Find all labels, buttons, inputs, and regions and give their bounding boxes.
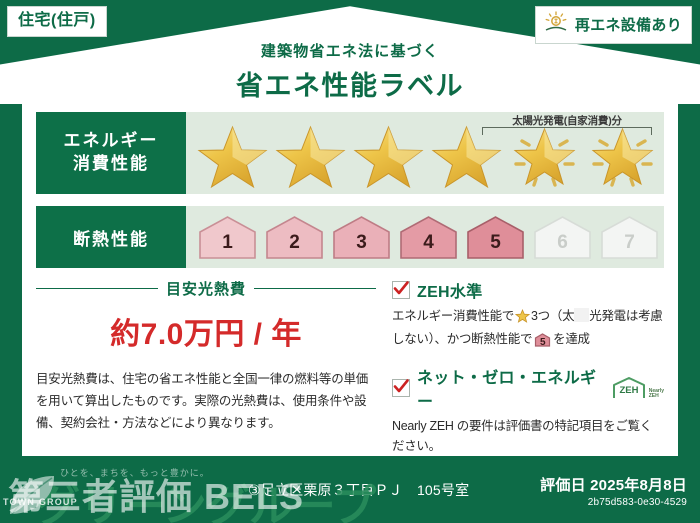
star-icon [428, 117, 505, 189]
renewable-badge-label: 再エネ設備あり [575, 14, 682, 35]
checkbox-checked-icon[interactable] [392, 379, 410, 397]
house-level-1: 1 [196, 214, 259, 260]
star-icon [272, 117, 349, 189]
net-zero-head: ネット・ゼロ・エネルギー ZEH Nearly ZEH [392, 364, 664, 412]
utility-cost-value: 約7.0万円 / 年 [36, 309, 376, 353]
evaluation-info: 評価日 2025年8月8日 2b75d583-0e30-4529 [540, 474, 687, 508]
house-level-6: 6 [531, 214, 594, 260]
zeh-standard-check: ZEH水準 エネルギー消費性能で3つ（太光発電は考慮しない）、かつ断熱性能で5を… [392, 278, 664, 354]
insulation-levels-area: 1 2 3 [186, 206, 664, 268]
insulation-performance-row: 断熱性能 1 2 [36, 206, 664, 268]
house-level-5: 5 [464, 214, 527, 260]
net-zero-body: Nearly ZEH の要件は評価書の特記項目をご覧ください。 [392, 416, 664, 457]
zeh-standard-head: ZEH水準 [392, 278, 664, 302]
star-rating [186, 112, 664, 194]
house-level-3: 3 [330, 214, 393, 260]
watermark-tagline: ひとを、まちを、もっと豊かに。 [60, 466, 210, 479]
star-icon [194, 117, 271, 189]
zeh-house-logo-icon: ZEH Nearly ZEH [611, 376, 664, 400]
house-level-4: 4 [397, 214, 460, 260]
zeh-standard-body: エネルギー消費性能で3つ（太光発電は考慮しない）、かつ断熱性能で5を達成 [392, 306, 664, 354]
zeh-standard-title: ZEH水準 [417, 278, 483, 302]
star-icon-solar [506, 117, 583, 189]
star-icon-solar [584, 117, 661, 189]
certification-checks: ZEH水準 エネルギー消費性能で3つ（太光発電は考慮しない）、かつ断熱性能で5を… [392, 278, 664, 466]
evaluation-date: 評価日 2025年8月8日 [540, 474, 687, 495]
star-icon [350, 117, 427, 189]
utility-cost-block: 目安光熱費 約7.0万円 / 年 目安光熱費は、住宅の省エネ性能と全国一律の燃料… [36, 278, 376, 435]
energy-label-card: 住宅(住戸) 再エネ設備あり 建築物省エネ法に基づく 省エネ性能ラベル [0, 0, 700, 523]
renewable-energy-badge: 再エネ設備あり [535, 6, 692, 44]
star-icon-inline [515, 312, 530, 326]
label-body-panel: エネルギー 消費性能 太陽光発電(自家消費)分 [22, 100, 678, 456]
utility-cost-note: 目安光熱費は、住宅の省エネ性能と全国一律の燃料等の単価を用いて算出したものです。… [36, 369, 376, 435]
title-block: 建築物省エネ法に基づく 省エネ性能ラベル [0, 40, 700, 103]
page-title: 省エネ性能ラベル [0, 64, 700, 103]
property-address: ③足立区栗原３丁目ＰＪ 105号室 [248, 480, 469, 500]
energy-performance-label: エネルギー 消費性能 [36, 112, 186, 194]
zeh-logo-sub: Nearly ZEH [649, 389, 664, 400]
lower-section: 目安光熱費 約7.0万円 / 年 目安光熱費は、住宅の省エネ性能と全国一律の燃料… [36, 278, 664, 446]
net-zero-energy-check: ネット・ゼロ・エネルギー ZEH Nearly ZEH [392, 364, 664, 457]
rule-left [36, 288, 158, 290]
insulation-performance-label: 断熱性能 [36, 206, 186, 268]
house-level-2: 2 [263, 214, 326, 260]
sun-icon [543, 11, 569, 38]
watermark-town-group: TOWN GROUP [3, 497, 78, 507]
evaluation-id: 2b75d583-0e30-4529 [540, 497, 687, 508]
rule-right [254, 288, 376, 290]
energy-stars-area: 太陽光発電(自家消費)分 [186, 112, 664, 194]
svg-text:ZEH: ZEH [619, 385, 638, 396]
checkbox-checked-icon[interactable] [392, 281, 410, 299]
utility-cost-heading: 目安光熱費 [36, 278, 376, 299]
house-badge-icon: 5 [534, 333, 551, 353]
category-tag: 住宅(住戸) [7, 6, 107, 37]
utility-cost-heading-text: 目安光熱費 [166, 278, 246, 299]
energy-performance-row: エネルギー 消費性能 太陽光発電(自家消費)分 [36, 112, 664, 194]
redacted-char [574, 308, 589, 322]
net-zero-title: ネット・ゼロ・エネルギー [417, 364, 600, 412]
insulation-level-scale: 1 2 3 [186, 206, 664, 268]
house-level-7: 7 [598, 214, 661, 260]
